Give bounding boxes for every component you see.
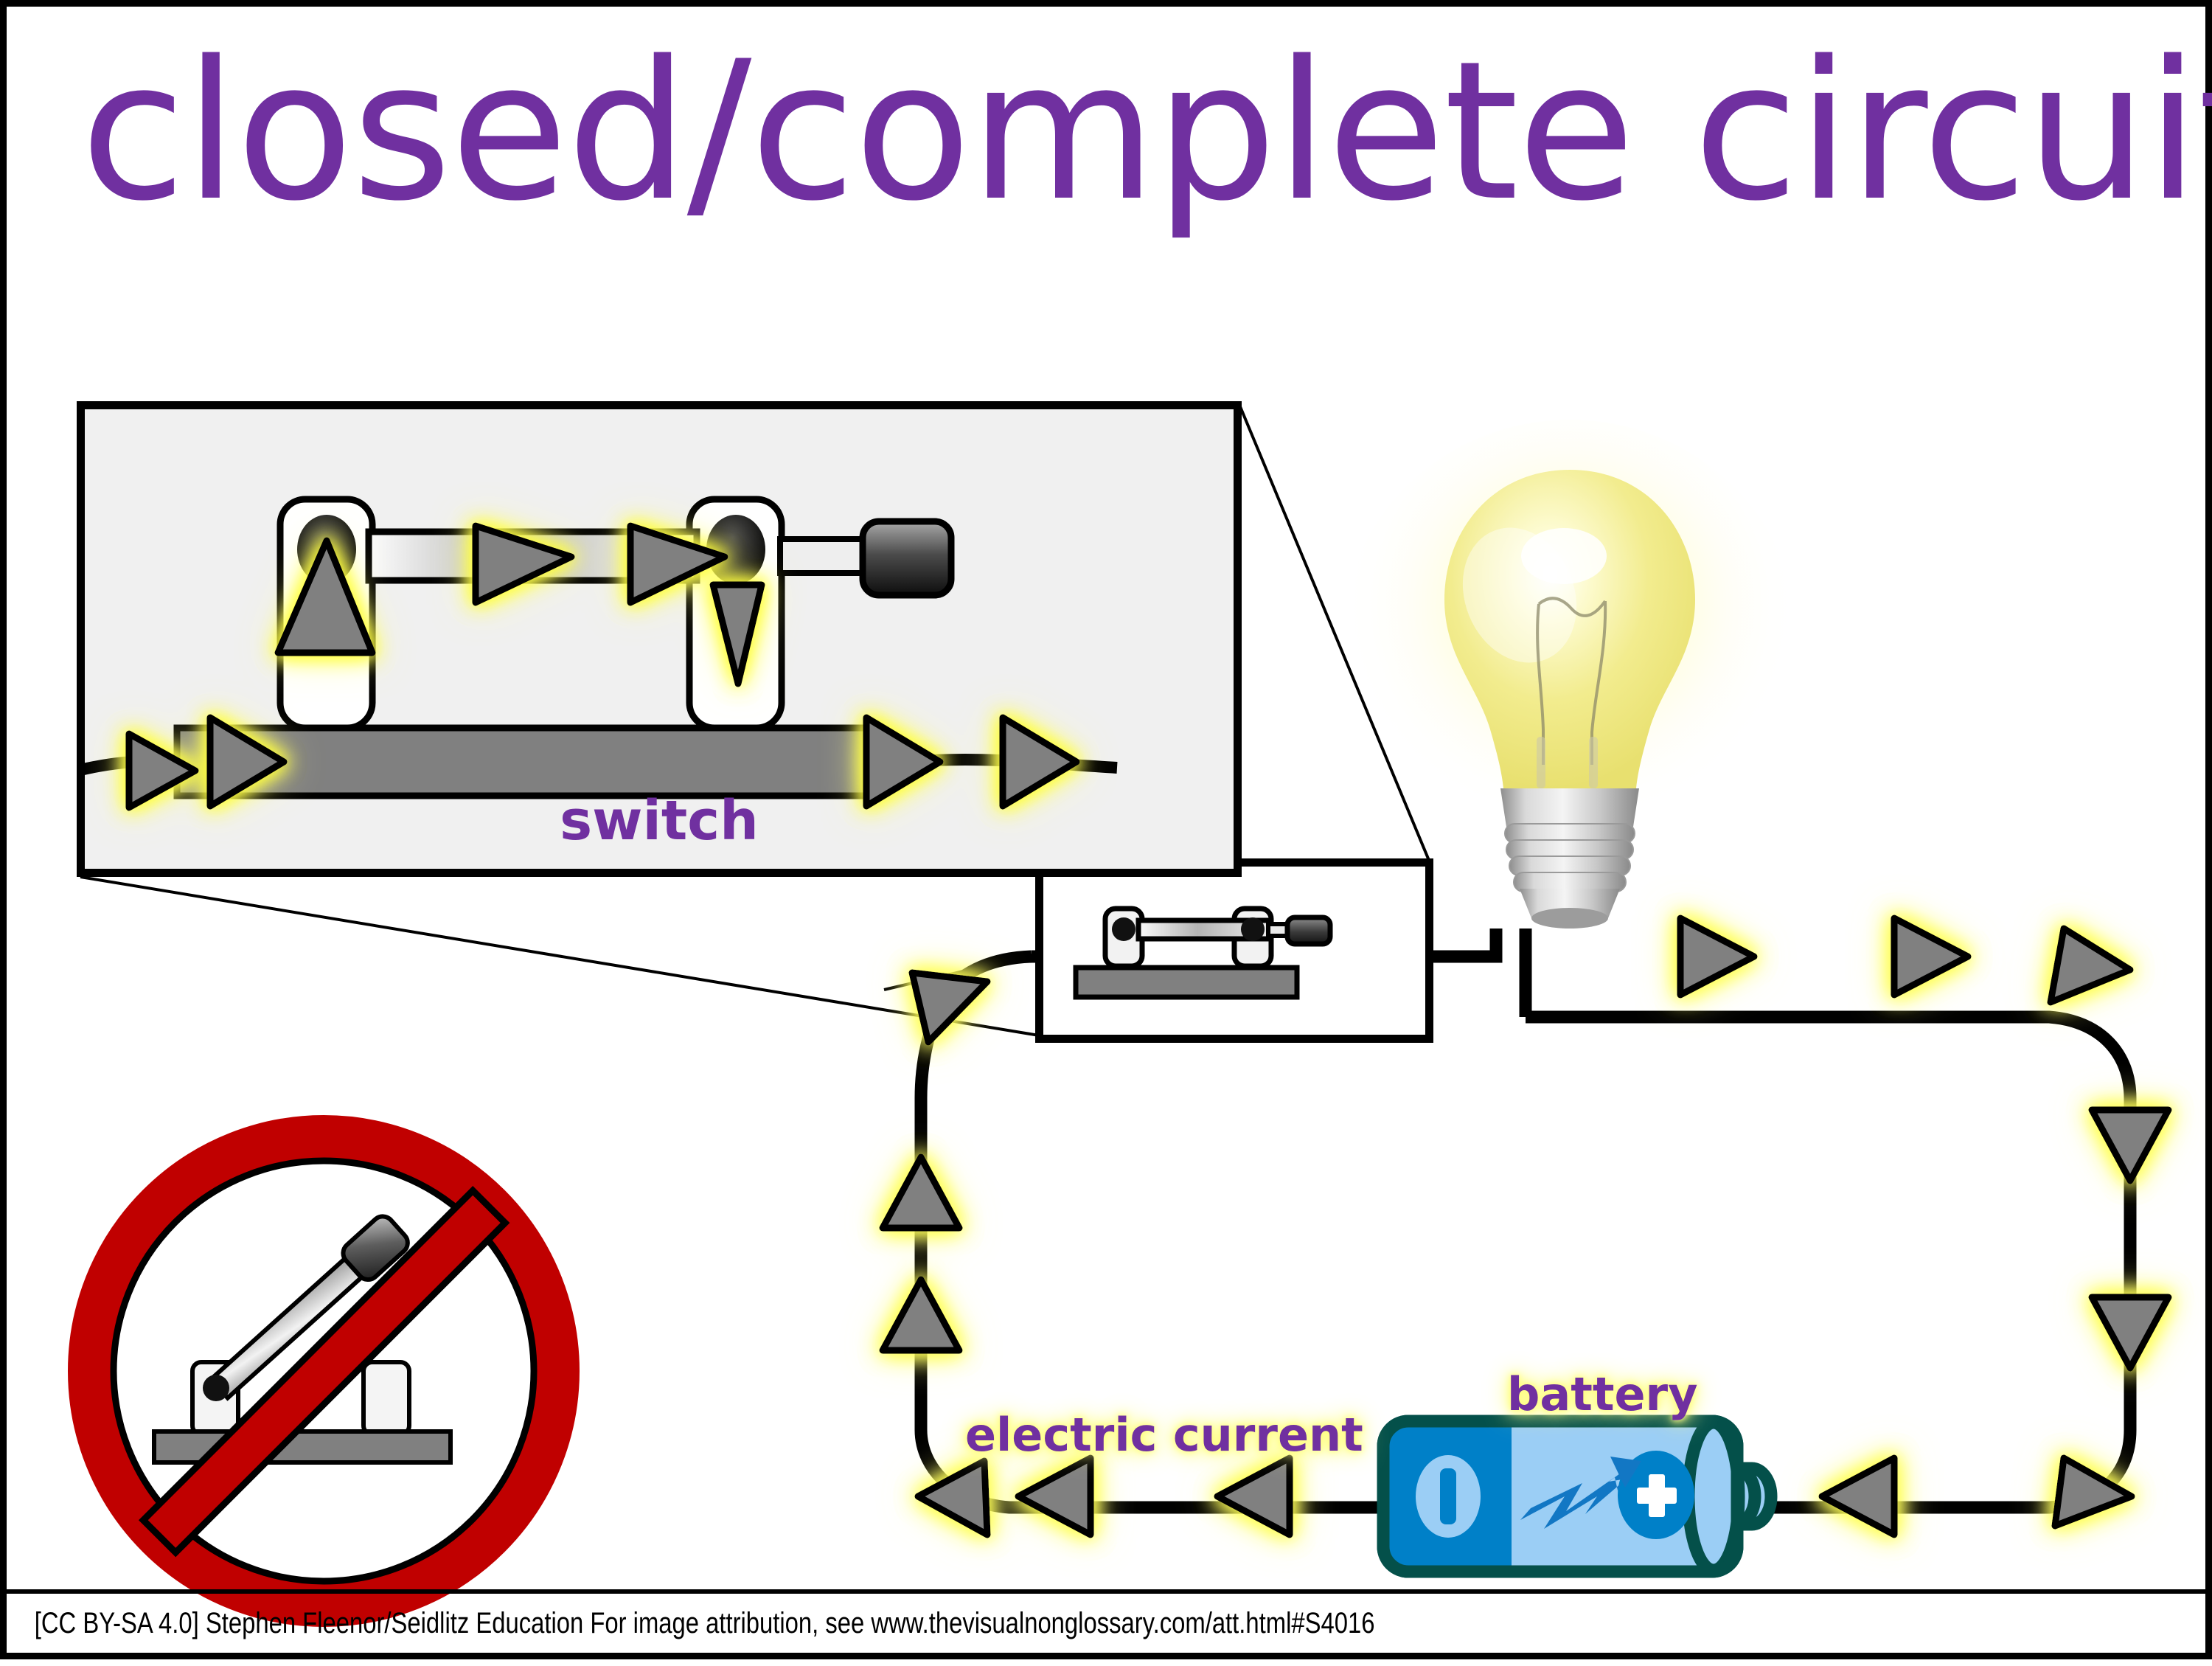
- switch-detail-panel: switch: [77, 401, 1242, 877]
- knife-switch-closed-small-icon: [1035, 858, 1433, 1043]
- detail-panel-label: switch: [85, 789, 1234, 853]
- electric-current-label: electric current: [965, 1408, 1363, 1462]
- page-title: closed/complete circuit: [80, 36, 2182, 228]
- no-open-switch-sign: [51, 1098, 597, 1644]
- attribution-text: [CC BY-SA 4.0] Stephen Fleenor/Seidlitz …: [7, 1607, 1374, 1640]
- switch-inset-box: [1035, 858, 1433, 1043]
- diagram-canvas: closed/complete circuit: [0, 0, 2212, 1659]
- battery-label: battery: [1507, 1367, 1698, 1421]
- attribution-footer: [CC BY-SA 4.0] Stephen Fleenor/Seidlitz …: [7, 1589, 2212, 1653]
- battery-icon: [1367, 1408, 1824, 1585]
